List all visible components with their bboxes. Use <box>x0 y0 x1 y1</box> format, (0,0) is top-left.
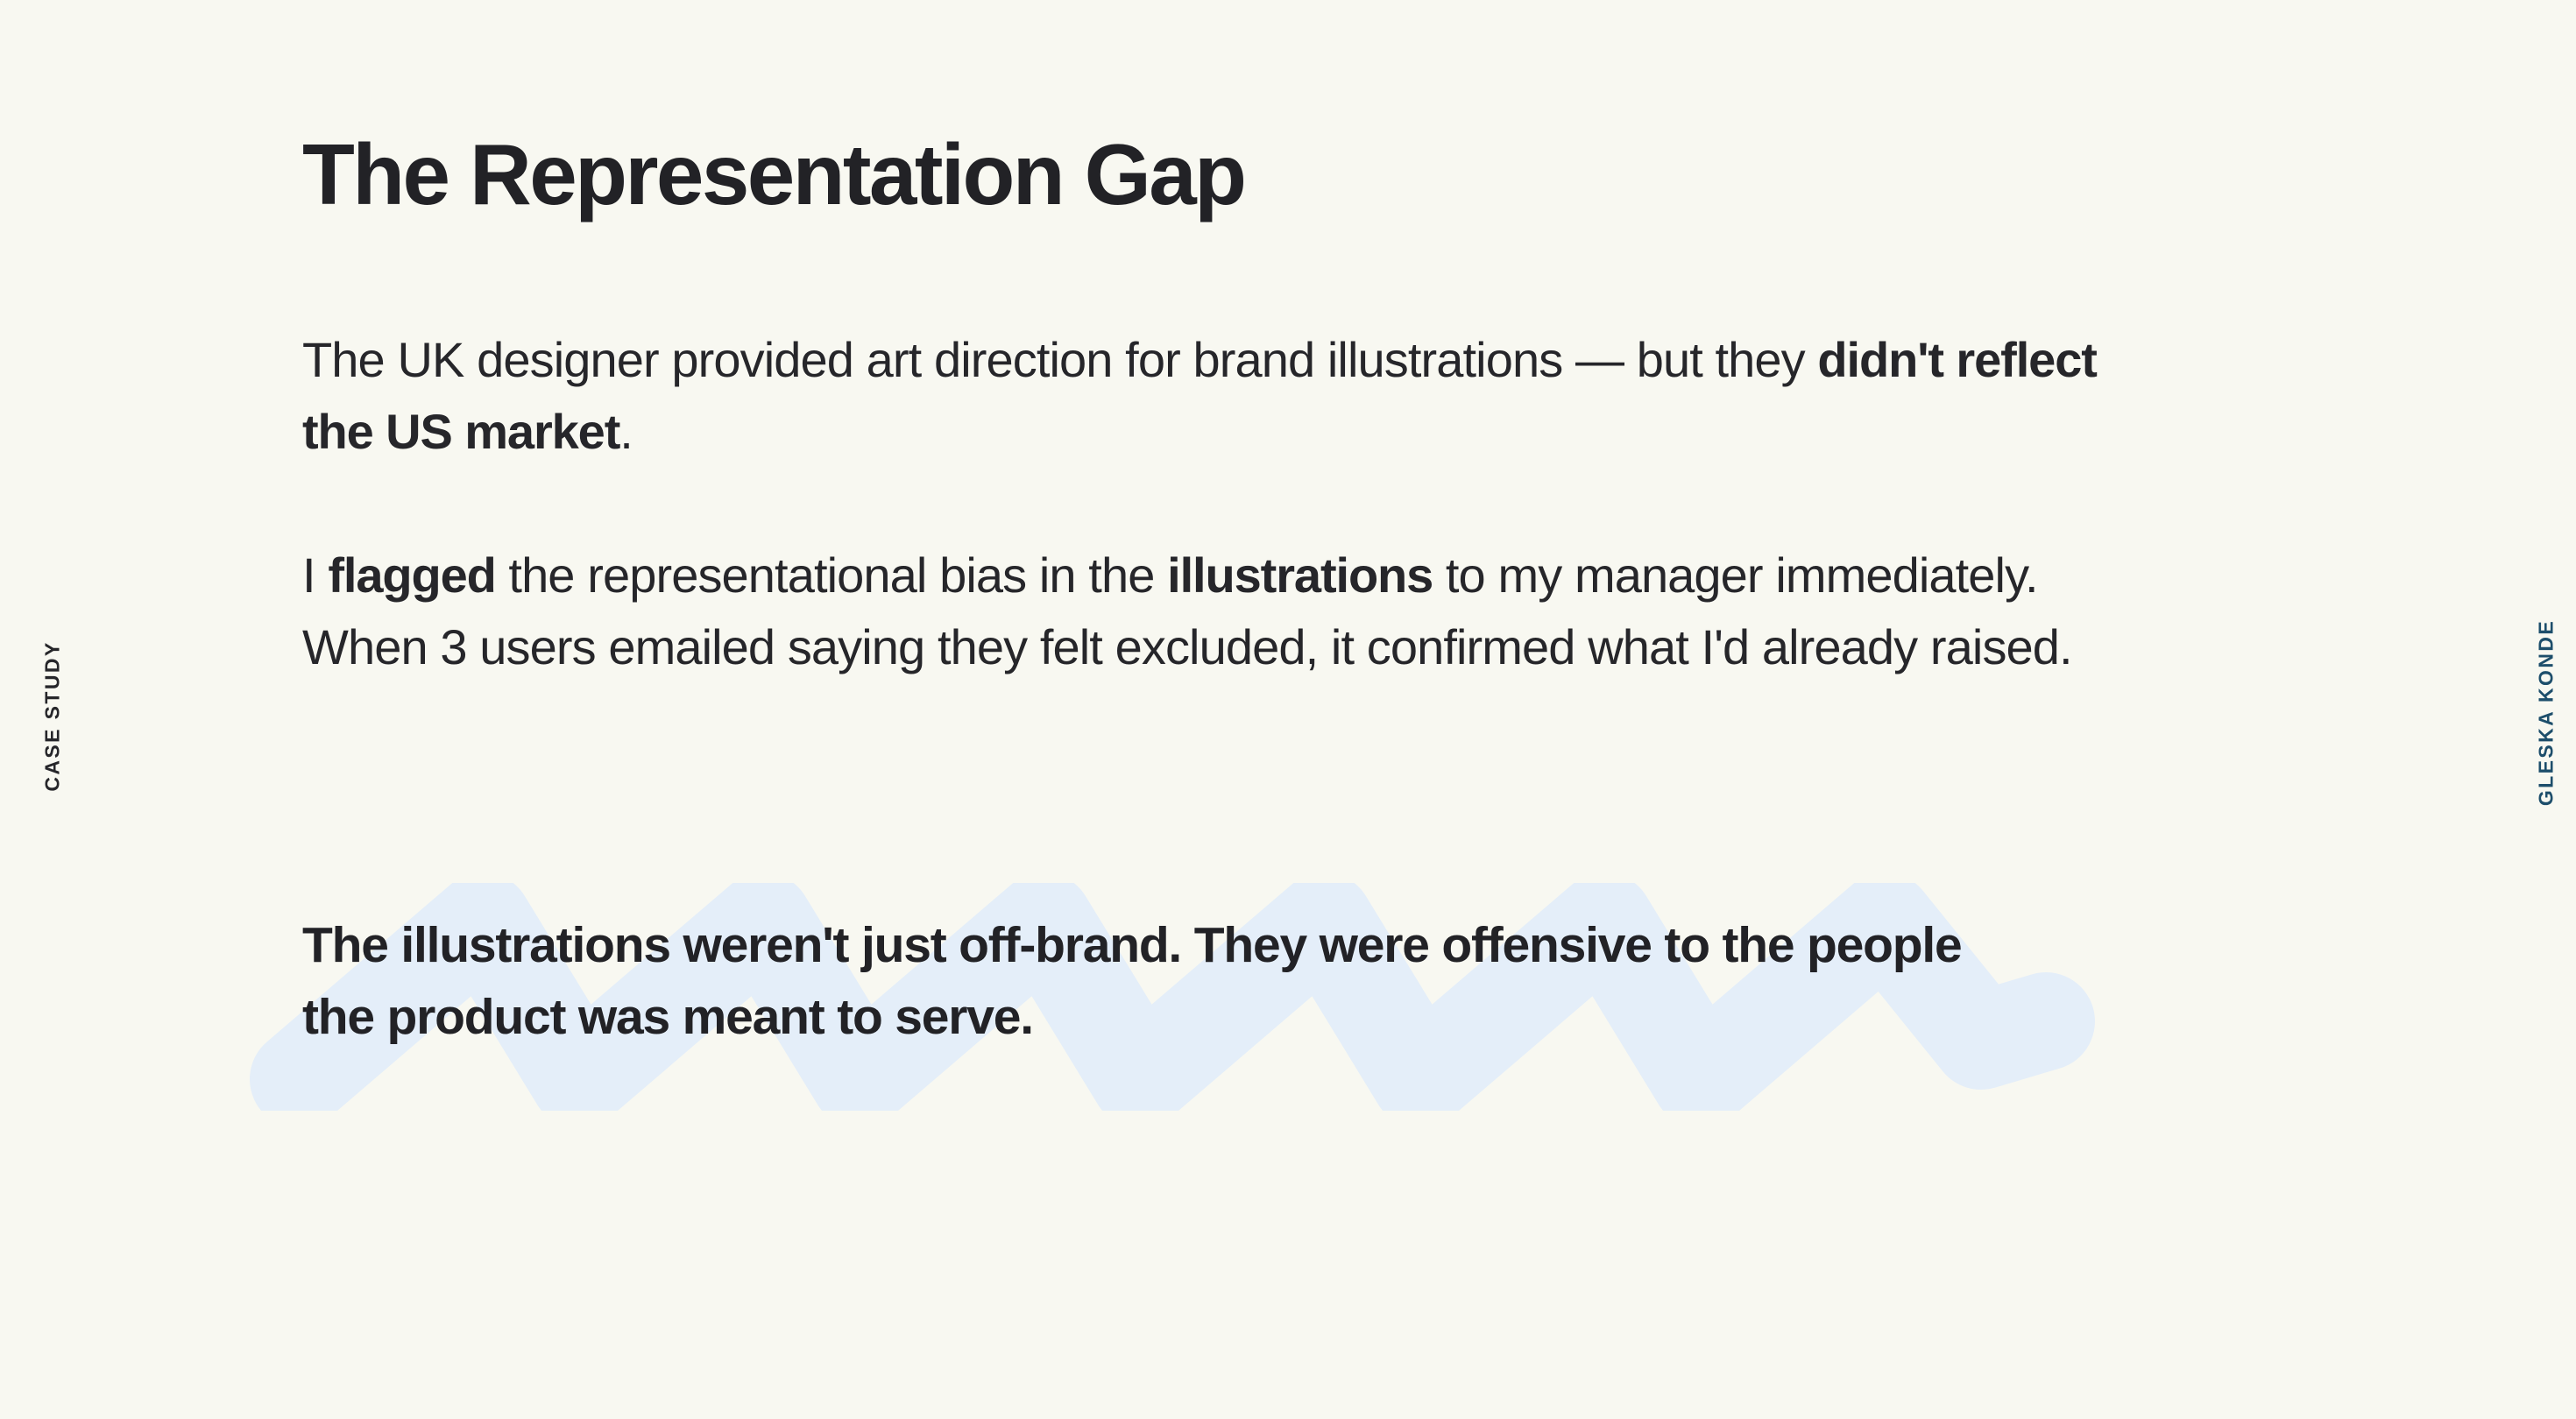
paragraph-two: I flagged the representational bias in t… <box>302 540 2116 683</box>
slide-canvas: CASE STUDY GLESKA KONDE The Representati… <box>0 0 2576 1419</box>
text-run: I <box>302 547 328 603</box>
emphasis-run: illustrations <box>1167 547 1433 603</box>
text-run: The UK designer provided art direction f… <box>302 332 1817 387</box>
callout-block: The illustrations weren't just off-brand… <box>302 909 2142 1119</box>
case-study-label: CASE STUDY <box>41 603 65 830</box>
emphasis-run: flagged <box>328 547 495 603</box>
paragraph-one: The UK designer provided art direction f… <box>302 324 2116 468</box>
brand-label: GLESKA KONDE <box>2535 582 2558 844</box>
text-run: the representational bias in the <box>496 547 1167 603</box>
callout-text: The illustrations weren't just off-brand… <box>302 909 2020 1053</box>
text-run: . <box>619 404 633 459</box>
page-title: The Representation Gap <box>302 130 1244 221</box>
